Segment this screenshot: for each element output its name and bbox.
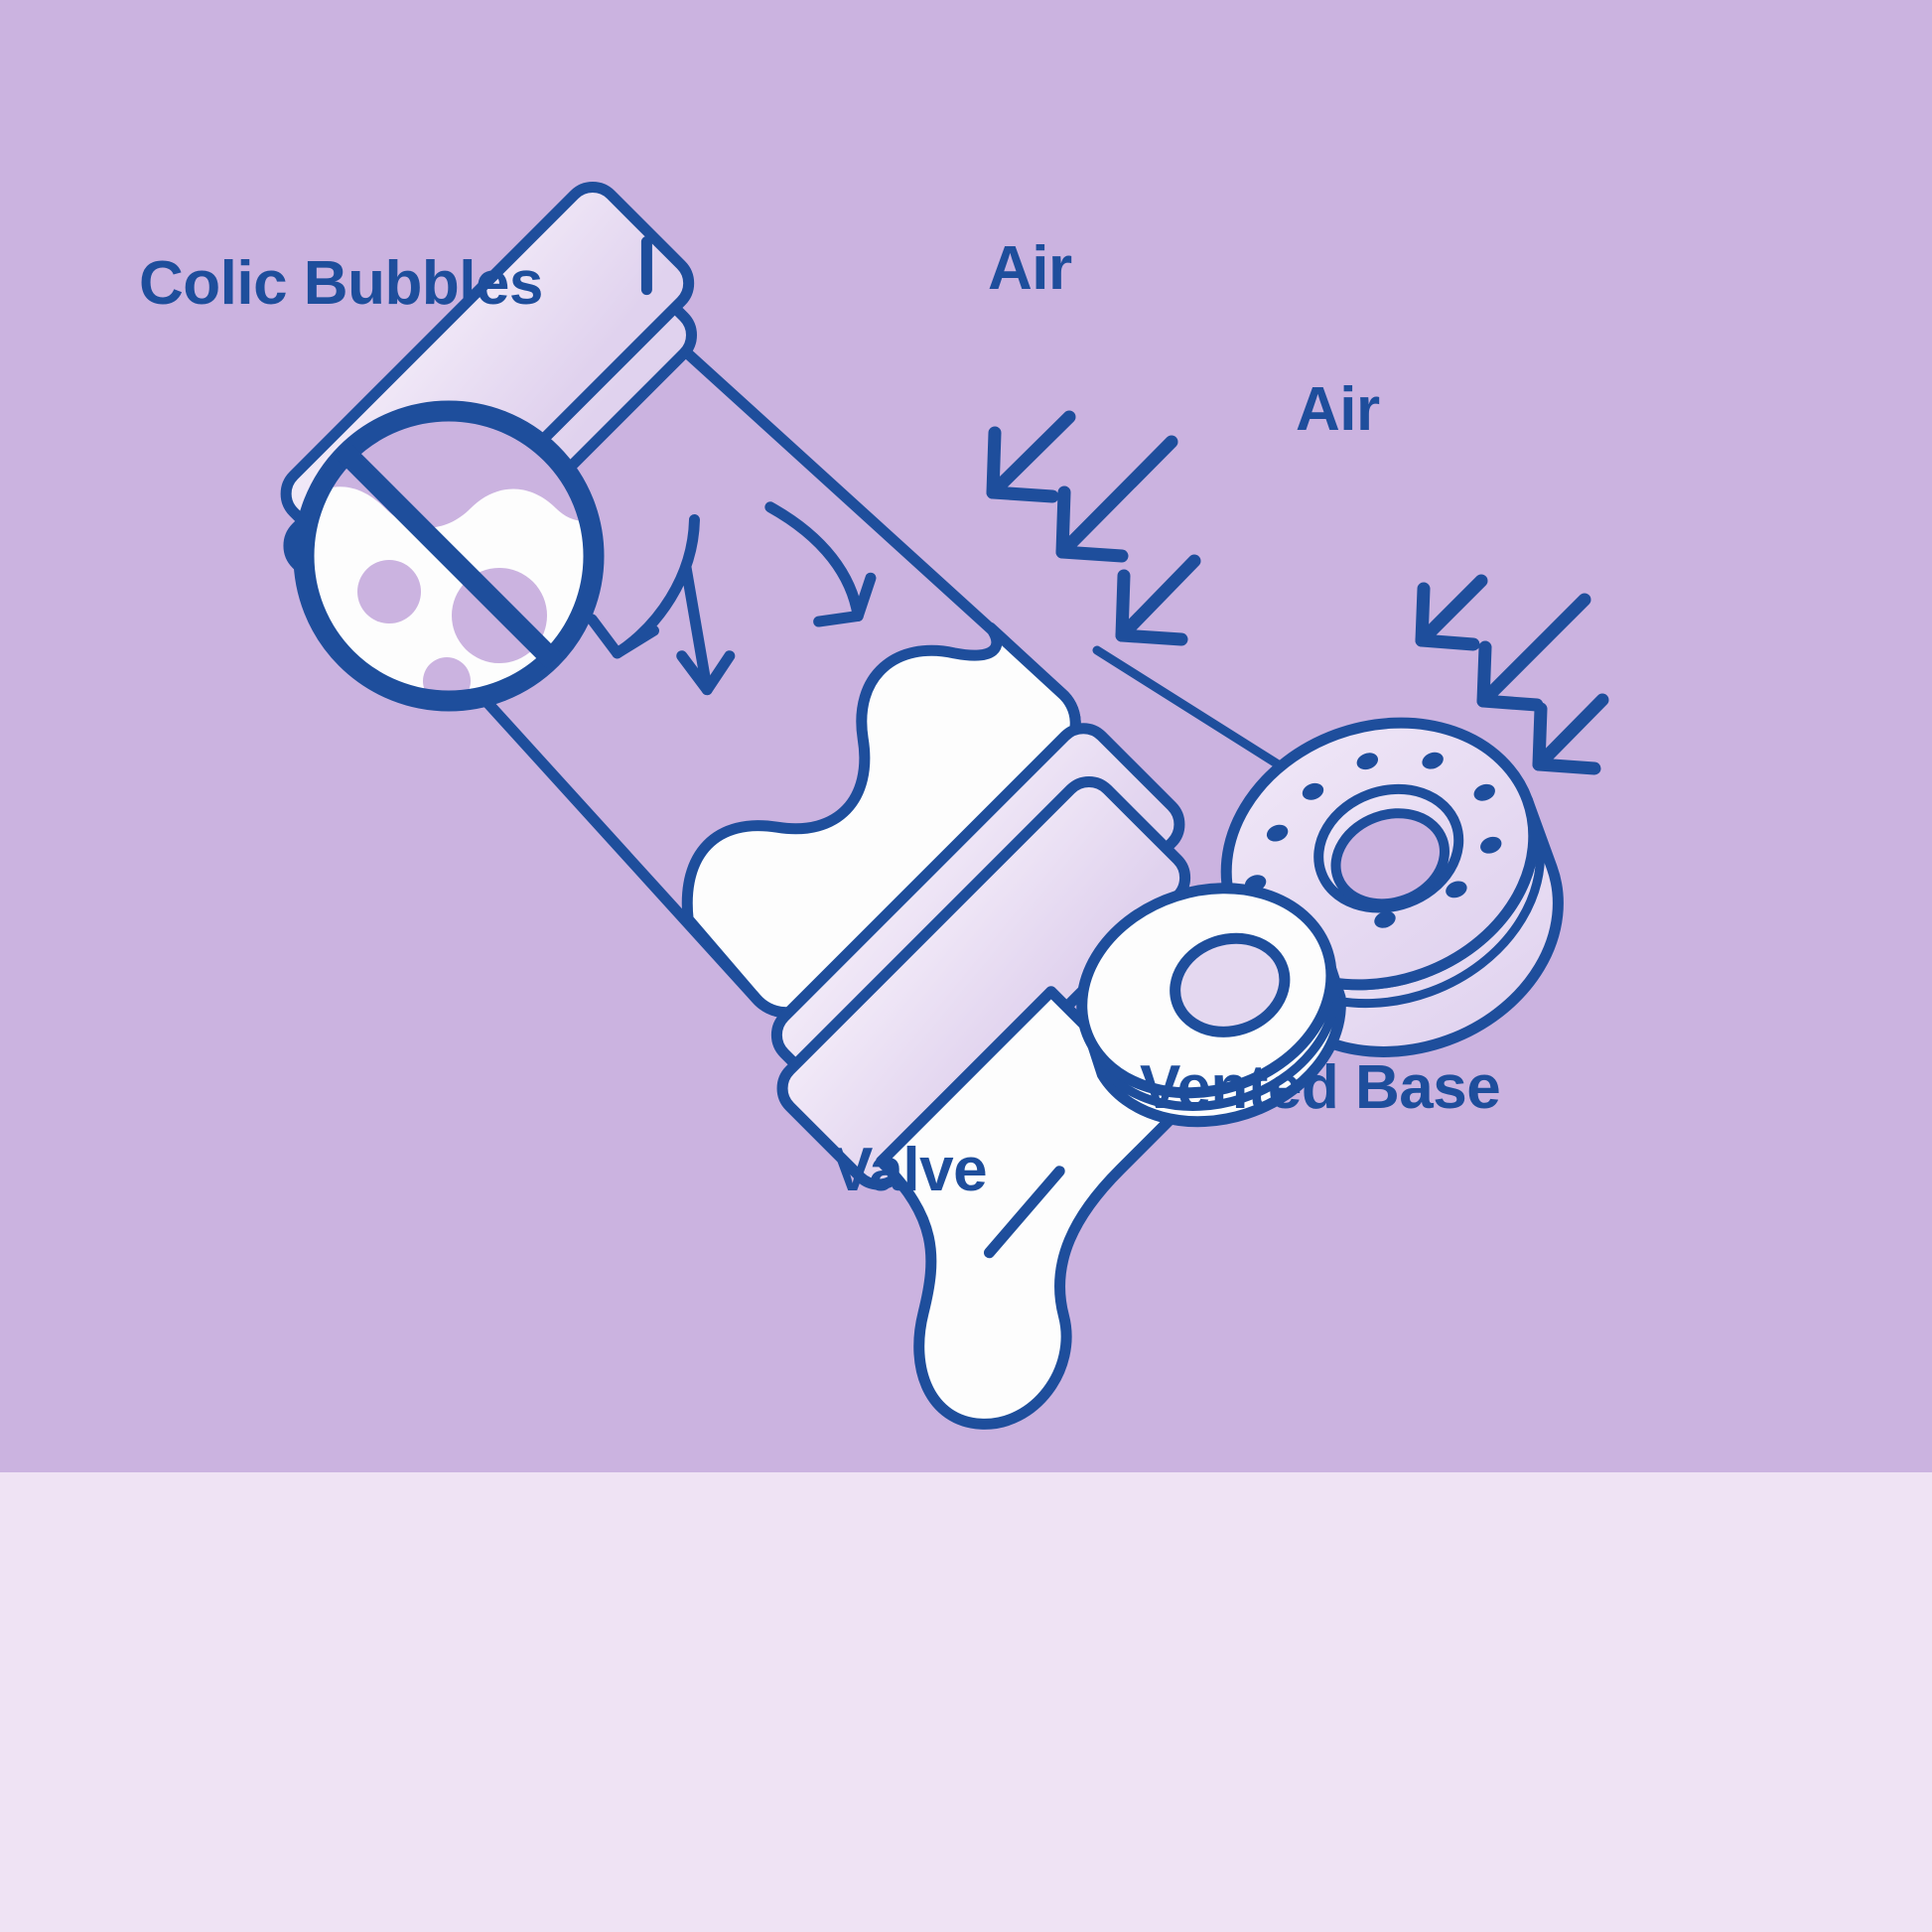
anti-colic-diagram: [0, 0, 1932, 1472]
label-valve: Valve: [832, 1140, 987, 1201]
air-arrow-top-3: [1122, 561, 1194, 639]
air-arrow-right-2: [1483, 600, 1585, 705]
infographic-card: Colic Bubbles Air Air Vented Base Valve …: [0, 0, 1932, 1932]
air-arrows-top: [993, 417, 1194, 639]
bubble-small-left: [357, 560, 421, 623]
air-arrow-right-3: [1539, 700, 1602, 768]
hero-illustration-panel: Colic Bubbles Air Air Vented Base Valve: [0, 0, 1932, 1472]
air-arrow-top-1: [993, 417, 1069, 496]
air-arrow-top-2: [1062, 442, 1172, 556]
air-arrow-right-1: [1422, 581, 1481, 644]
label-air-right: Air: [1296, 379, 1380, 441]
label-vented-base: Vented Base: [1140, 1057, 1500, 1119]
caption-panel: Reduces Colic and Gas Patented Anti-Coli…: [0, 1472, 1932, 1932]
label-air-top: Air: [988, 238, 1072, 300]
label-colic-bubbles: Colic Bubbles: [139, 253, 543, 315]
